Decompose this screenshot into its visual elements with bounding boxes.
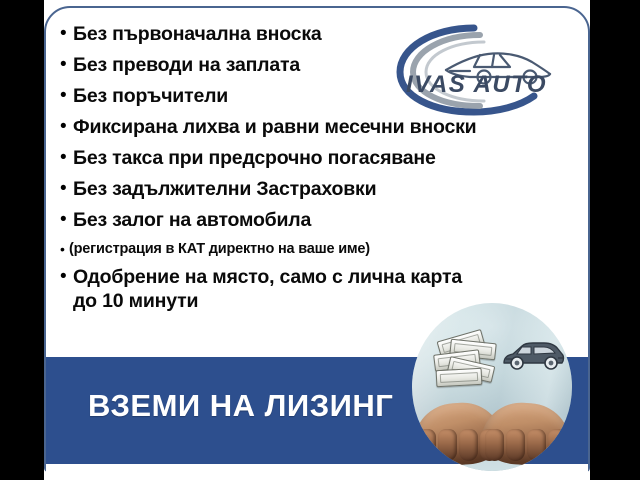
- banner-headline: ВЗЕМИ НА ЛИЗИНГ: [88, 386, 393, 426]
- list-item: • Без задължителни Застраховки: [60, 177, 584, 201]
- bullet-icon: •: [60, 208, 73, 232]
- list-item: • Фиксирана лихва и равни месечни вноски: [60, 115, 584, 139]
- list-item-label: Без първоначална вноска: [73, 22, 322, 46]
- list-item-label: (регистрация в КАТ директно на ваше име): [69, 239, 370, 259]
- banknote: [436, 368, 483, 387]
- finger: [459, 429, 478, 461]
- money-stack-illustration: [434, 335, 498, 385]
- list-item-label: Без поръчители: [73, 84, 228, 108]
- car-sketch-icon: [500, 339, 566, 371]
- list-item-label: Без задължителни Застраховки: [73, 177, 376, 201]
- finger: [548, 429, 567, 461]
- bullet-icon: •: [60, 22, 73, 46]
- list-item-label: Без залог на автомобила: [73, 208, 311, 232]
- list-item-label: Без преводи на заплата: [73, 53, 300, 77]
- list-item: • Без такса при предсрочно погасяване: [60, 146, 584, 170]
- list-item-label: Без такса при предсрочно погасяване: [73, 146, 436, 170]
- finger: [506, 429, 525, 461]
- finger: [527, 429, 546, 461]
- right-hand-fingers: [483, 429, 569, 463]
- logo-graphic: IVAS AUTO: [388, 22, 560, 118]
- bullet-icon: •: [60, 115, 73, 139]
- bullet-icon: •: [60, 239, 69, 259]
- ivas-auto-logo: IVAS AUTO: [388, 22, 560, 118]
- flyer-canvas: • Без първоначална вноска • Без преводи …: [0, 0, 640, 480]
- list-item-label: Одобрение на място, само с лична карта д…: [73, 265, 462, 313]
- bullet-icon: •: [60, 146, 73, 170]
- bullet-icon: •: [60, 84, 73, 108]
- bullet-icon: •: [60, 53, 73, 77]
- hands-money-car-photo: [412, 303, 572, 471]
- logo-wordmark: IVAS AUTO: [406, 71, 547, 98]
- finger: [417, 429, 436, 461]
- finger: [438, 429, 457, 461]
- list-item-note: • (регистрация в КАТ директно на ваше им…: [60, 239, 584, 259]
- finger: [485, 429, 504, 461]
- list-item-label: Фиксирана лихва и равни месечни вноски: [73, 115, 476, 139]
- bullet-icon: •: [60, 265, 73, 289]
- bullet-icon: •: [60, 177, 73, 201]
- list-item: • Без залог на автомобила: [60, 208, 584, 232]
